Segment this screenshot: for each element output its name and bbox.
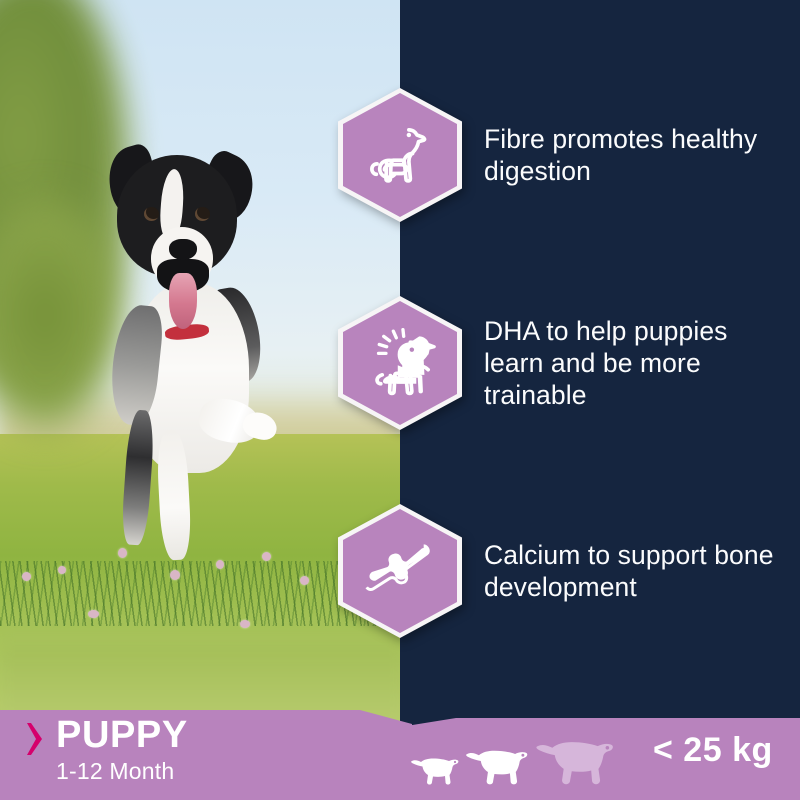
clover-flower	[240, 620, 250, 628]
benefit-item-dha: DHA to help puppies learn and be more tr…	[338, 296, 794, 430]
benefit-badge-1	[338, 88, 462, 222]
puppy-left-eye	[144, 207, 159, 221]
life-stage-title: PUPPY	[56, 716, 188, 754]
benefit-label-1: Fibre promotes healthy digestion	[484, 123, 784, 188]
bone-joint-icon	[338, 504, 462, 638]
sitting-dog-digestion-icon	[338, 88, 462, 222]
benefit-label-3: Calcium to support bone development	[484, 539, 784, 604]
dog-size-indicator-group	[410, 730, 616, 785]
clover-flower	[300, 576, 309, 585]
benefit-item-fibre: Fibre promotes healthy digestion	[338, 88, 794, 222]
benefit-badge-2	[338, 296, 462, 430]
size-weight-block: < 25 kg	[400, 700, 800, 800]
benefit-badge-3	[338, 504, 462, 638]
puppy-tongue	[169, 273, 197, 329]
large-dog-icon	[534, 730, 616, 785]
product-feature-banner: Fibre promotes healthy digestion	[0, 0, 800, 800]
small-dog-icon	[410, 751, 460, 785]
clover-flower	[58, 566, 66, 574]
clover-flower	[88, 610, 99, 618]
life-stage-block: PUPPY 1-12 Month	[0, 700, 412, 800]
puppy-nose	[169, 239, 197, 260]
clover-flower	[22, 572, 31, 581]
benefit-label-2: DHA to help puppies learn and be more tr…	[484, 315, 784, 412]
puppy-front-left-leg	[120, 409, 155, 545]
chevron-right-icon	[27, 722, 43, 756]
weight-range-label: < 25 kg	[653, 733, 773, 767]
medium-dog-icon	[464, 741, 530, 785]
sitting-dog-brain-spark-icon	[338, 296, 462, 430]
life-stage-subtitle: 1-12 Month	[56, 760, 174, 783]
benefit-item-calcium: Calcium to support bone development	[338, 504, 794, 638]
puppy-right-eye	[195, 207, 210, 221]
puppy-subject	[95, 155, 285, 575]
